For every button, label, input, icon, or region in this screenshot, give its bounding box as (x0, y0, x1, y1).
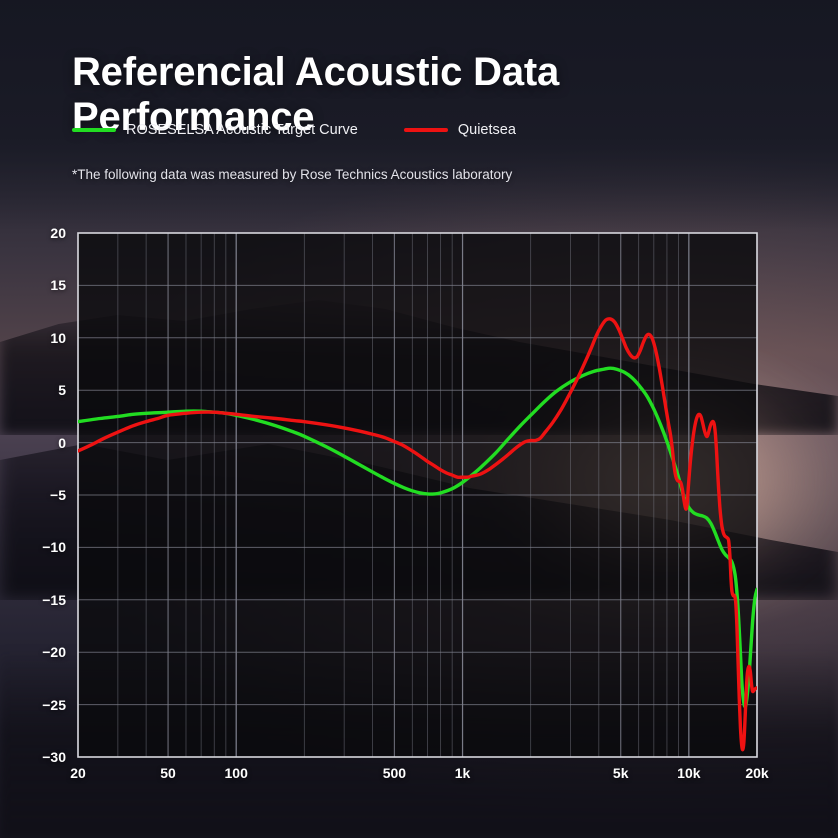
frequency-response-chart: 20151050−5−10−15−20−25−30 20501005001k5k… (0, 0, 838, 838)
y-axis-tick-label: −25 (26, 697, 66, 713)
y-axis-tick-label: −10 (26, 539, 66, 555)
y-axis-tick-label: 5 (26, 382, 66, 398)
y-axis-tick-label: −15 (26, 592, 66, 608)
y-axis-tick-label: 15 (26, 277, 66, 293)
y-axis-tick-label: 10 (26, 330, 66, 346)
chart-page: Referencial Acoustic Data Performance RO… (0, 0, 838, 838)
x-axis-tick-label: 20 (70, 765, 86, 781)
x-axis-tick-label: 5k (613, 765, 629, 781)
y-axis-tick-label: 0 (26, 435, 66, 451)
y-axis-tick-label: −5 (26, 487, 66, 503)
y-axis-tick-label: 20 (26, 225, 66, 241)
x-axis-tick-label: 1k (455, 765, 471, 781)
x-axis-tick-label: 500 (383, 765, 406, 781)
x-axis-tick-label: 100 (225, 765, 248, 781)
y-axis-tick-label: −30 (26, 749, 66, 765)
x-axis-tick-label: 50 (160, 765, 176, 781)
chart-svg (0, 0, 838, 838)
x-axis-tick-label: 10k (677, 765, 700, 781)
x-axis-tick-label: 20k (745, 765, 768, 781)
y-axis-tick-label: −20 (26, 644, 66, 660)
